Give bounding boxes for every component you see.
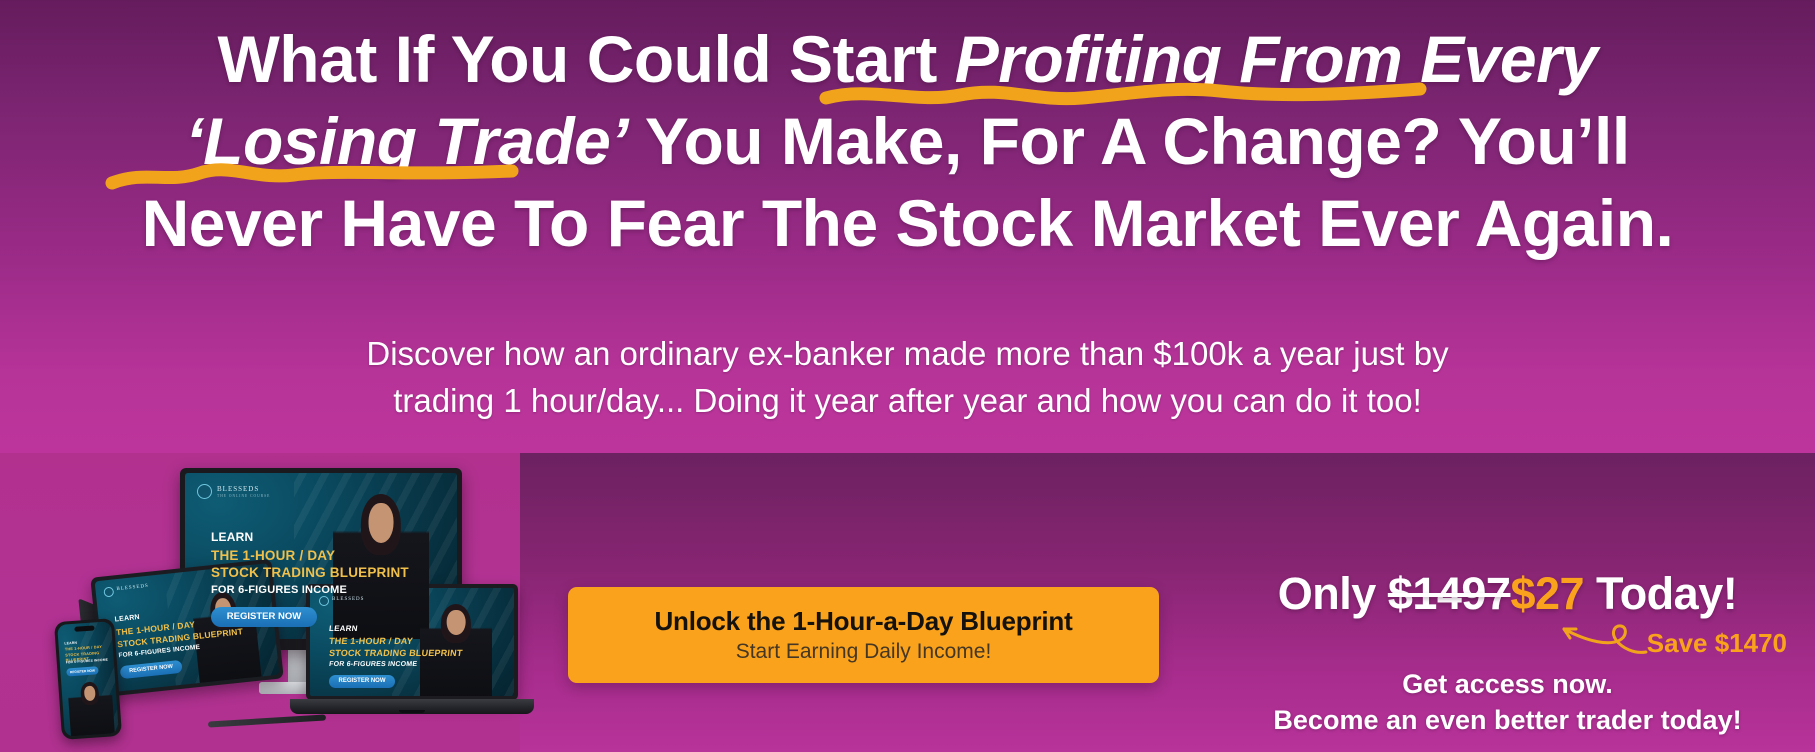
subheading-line-1: Discover how an ordinary ex-banker made … bbox=[0, 330, 1815, 377]
price-suffix: Today! bbox=[1584, 568, 1737, 619]
headline-line-1: What If You Could Start Profiting From E… bbox=[0, 18, 1815, 100]
screen-register-now-button[interactable]: REGISTER NOW bbox=[120, 660, 183, 679]
stylus-pen bbox=[208, 714, 326, 727]
pricing-block: Only $1497$27 Today! Save $1470 Get acce… bbox=[1200, 568, 1815, 738]
headline-line-3: Never Have To Fear The Stock Market Ever… bbox=[0, 182, 1815, 264]
screen-line-gold-1: THE 1-HOUR / DAY bbox=[328, 636, 413, 648]
screen-line-learn: LEARN bbox=[211, 530, 253, 545]
brand-compass-icon bbox=[197, 484, 212, 499]
screen-line-learn: LEARN bbox=[328, 624, 358, 634]
subheading-line-2: trading 1 hour/day... Doing it year afte… bbox=[0, 377, 1815, 424]
screen-line-white: FOR 6-FIGURES INCOME bbox=[328, 661, 417, 670]
subheading: Discover how an ordinary ex-banker made … bbox=[0, 330, 1815, 424]
page-title: What If You Could Start Profiting From E… bbox=[0, 18, 1815, 264]
closing-line-2: Become an even better trader today! bbox=[1200, 702, 1815, 738]
brand-compass-icon bbox=[103, 586, 114, 597]
original-price: $1497 bbox=[1388, 568, 1511, 619]
savings-row: Save $1470 bbox=[1200, 624, 1815, 664]
laptop-trackpad-notch bbox=[399, 710, 425, 713]
cta-sub-label: Start Earning Daily Income! bbox=[736, 640, 992, 664]
screen-line-white: FOR 6-FIGURES INCOME bbox=[211, 583, 347, 597]
closing-line-1: Get access now. bbox=[1200, 666, 1815, 702]
cta-main-label: Unlock the 1-Hour-a-Day Blueprint bbox=[654, 606, 1072, 637]
headline-line-2-emphasis: ‘Losing Trade’ bbox=[185, 104, 628, 178]
brand-compass-icon bbox=[319, 596, 329, 606]
sale-price: $27 bbox=[1510, 568, 1584, 619]
closing-copy: Get access now. Become an even better tr… bbox=[1200, 666, 1815, 738]
headline-line-2: ‘Losing Trade’ You Make, For A Change? Y… bbox=[0, 100, 1815, 182]
screen-line-gold-2: STOCK TRADING BLUEPRINT bbox=[328, 648, 463, 660]
headline-line-1-emphasis: Profiting From Every bbox=[955, 22, 1598, 96]
screen-line-learn: LEARN bbox=[64, 641, 77, 646]
curly-arrow-icon bbox=[1530, 618, 1650, 664]
product-mockup-devices: BLESSEDS THE ONLINE COURSE LEARN THE 1-H… bbox=[58, 468, 518, 752]
screen-line-learn: LEARN bbox=[114, 614, 140, 626]
price-prefix: Only bbox=[1278, 568, 1388, 619]
screen-line-gold-2: STOCK TRADING BLUEPRINT bbox=[211, 564, 409, 581]
device-phone: LEARN THE 1-HOUR / DAY STOCK TRADING BLU… bbox=[54, 618, 122, 740]
brand-name: BLESSEDS bbox=[116, 584, 149, 592]
phone-frame: LEARN THE 1-HOUR / DAY STOCK TRADING BLU… bbox=[54, 618, 122, 740]
phone-screen: LEARN THE 1-HOUR / DAY STOCK TRADING BLU… bbox=[57, 621, 119, 736]
screen-line-gold-1: THE 1-HOUR / DAY bbox=[211, 547, 335, 564]
unlock-blueprint-cta-button[interactable]: Unlock the 1-Hour-a-Day Blueprint Start … bbox=[568, 587, 1159, 683]
screen-register-now-button[interactable]: REGISTER NOW bbox=[211, 607, 317, 627]
savings-label: Save $1470 bbox=[1647, 628, 1787, 659]
headline-line-2-plain: You Make, For A Change? You’ll bbox=[628, 104, 1630, 178]
screen-register-now-button[interactable]: REGISTER NOW bbox=[329, 675, 395, 688]
brand-tagline: THE ONLINE COURSE bbox=[217, 494, 270, 498]
brand-name: BLESSEDS bbox=[332, 597, 364, 602]
headline-line-1-plain: What If You Could Start bbox=[218, 22, 955, 96]
screen-register-now-button[interactable]: REGISTER NOW bbox=[66, 666, 98, 676]
price-headline: Only $1497$27 Today! bbox=[1200, 568, 1815, 620]
promo-banner: What If You Could Start Profiting From E… bbox=[0, 0, 1815, 752]
instructor-photo bbox=[67, 679, 115, 736]
brand-name: BLESSEDS bbox=[217, 485, 259, 493]
